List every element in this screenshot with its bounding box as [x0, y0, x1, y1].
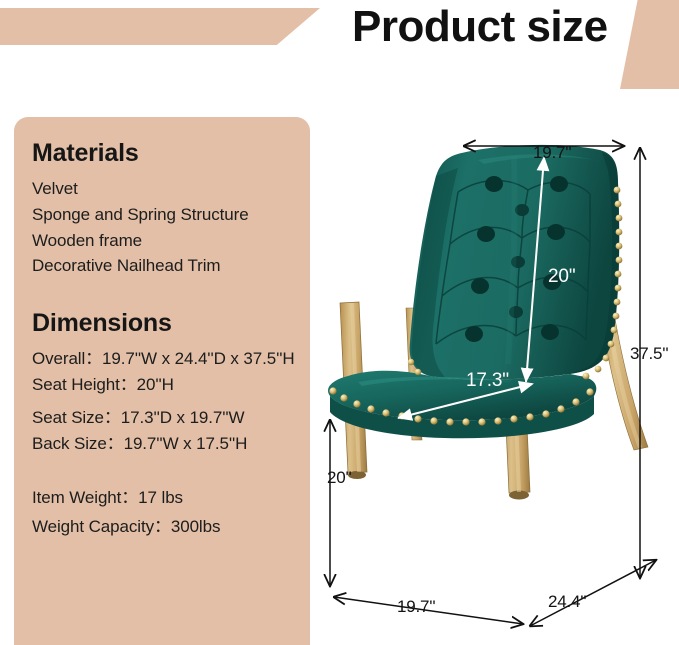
- dim-label-back-height: 20'': [548, 266, 576, 288]
- materials-section: Materials Velvet Sponge and Spring Struc…: [32, 139, 310, 279]
- header-banner-left: [0, 8, 320, 45]
- dim-label-bottom-depth: 24.4'': [548, 592, 586, 612]
- material-item: Wooden frame: [32, 228, 310, 254]
- header-banner-right: [620, 0, 679, 89]
- dim-label-seat-depth: 17.3'': [466, 370, 509, 392]
- dim-label-bottom-width: 19.7'': [397, 597, 435, 617]
- dim-label-right-height: 37.5'': [630, 344, 668, 364]
- material-item: Decorative Nailhead Trim: [32, 253, 310, 279]
- dimension-item: Back Size：19.7''W x 17.5''H: [32, 431, 310, 457]
- dimension-item: Overall：19.7''W x 24.4''D x 37.5''H: [32, 346, 310, 372]
- materials-heading: Materials: [32, 139, 310, 168]
- weight-item: Item Weight：17 lbs: [32, 483, 310, 512]
- chair-backrest: [410, 145, 620, 380]
- chair-seat: [328, 371, 596, 439]
- spacer: [32, 398, 310, 405]
- dimension-item: Seat Size：17.3''D x 19.7''W: [32, 405, 310, 431]
- dimensions-heading: Dimensions: [32, 309, 310, 338]
- dimensions-section: Dimensions Overall：19.7''W x 24.4''D x 3…: [32, 309, 310, 456]
- weight-section: Item Weight：17 lbs Weight Capacity：300lb…: [32, 483, 310, 541]
- material-item: Sponge and Spring Structure: [32, 202, 310, 228]
- dimension-item: Seat Height：20''H: [32, 372, 310, 398]
- dim-label-left-seat-height: 20'': [327, 468, 352, 488]
- page-title: Product size: [352, 2, 608, 52]
- dim-label-top-width: 19.7'': [533, 143, 571, 163]
- info-panel: Materials Velvet Sponge and Spring Struc…: [14, 117, 310, 645]
- material-item: Velvet: [32, 176, 310, 202]
- weight-item: Weight Capacity：300lbs: [32, 512, 310, 541]
